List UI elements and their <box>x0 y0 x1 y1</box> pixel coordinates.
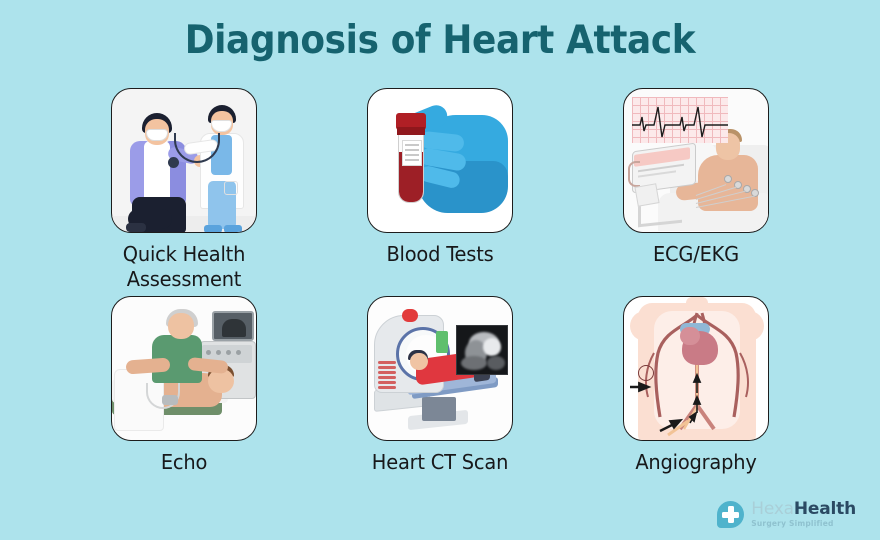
card-label: ECG/EKG <box>584 242 807 267</box>
ct-scanner-icon <box>368 297 512 440</box>
ecg-waveform-icon <box>632 97 728 143</box>
hexahealth-logo[interactable]: HexaHealth Surgery Simplified <box>717 501 856 528</box>
angiography-torso-icon <box>624 297 768 440</box>
card-image-angiography <box>623 296 769 441</box>
card-quick-health-assessment[interactable]: Quick Health Assessment <box>56 88 312 296</box>
card-image-heart-ct-scan <box>367 296 513 441</box>
logo-text: HexaHealth Surgery Simplified <box>751 501 856 528</box>
card-heart-ct-scan[interactable]: Heart CT Scan <box>312 296 568 504</box>
logo-name-light: Hexa <box>751 499 794 519</box>
card-label: Echo <box>72 450 295 475</box>
card-label: Quick Health Assessment <box>72 242 295 292</box>
ecg-machine-patient-icon <box>624 89 768 232</box>
card-blood-tests[interactable]: Blood Tests <box>312 88 568 296</box>
card-image-ecg-ekg <box>623 88 769 233</box>
card-image-blood-tests <box>367 88 513 233</box>
card-label: Angiography <box>584 450 807 475</box>
card-angiography[interactable]: Angiography <box>568 296 824 504</box>
card-ecg-ekg[interactable]: ECG/EKG <box>568 88 824 296</box>
page-title: Diagnosis of Heart Attack <box>35 18 845 63</box>
card-image-quick-health-assessment <box>111 88 257 233</box>
ct-scan-image <box>456 325 508 375</box>
card-label: Heart CT Scan <box>328 450 551 475</box>
logo-tagline: Surgery Simplified <box>751 520 856 528</box>
card-echo[interactable]: Echo <box>56 296 312 504</box>
card-image-echo <box>111 296 257 441</box>
gloved-hand-blood-tube-icon <box>368 89 512 232</box>
logo-name-bold: Health <box>794 499 856 519</box>
card-label: Blood Tests <box>328 242 551 267</box>
doctor-examining-patient-icon <box>112 89 256 232</box>
logo-name: HexaHealth <box>751 501 856 518</box>
diagnosis-card-grid: Quick Health Assessment Blood Tests <box>56 88 824 504</box>
medical-cross-shield-icon <box>717 501 744 528</box>
echocardiogram-ultrasound-icon <box>112 297 256 440</box>
